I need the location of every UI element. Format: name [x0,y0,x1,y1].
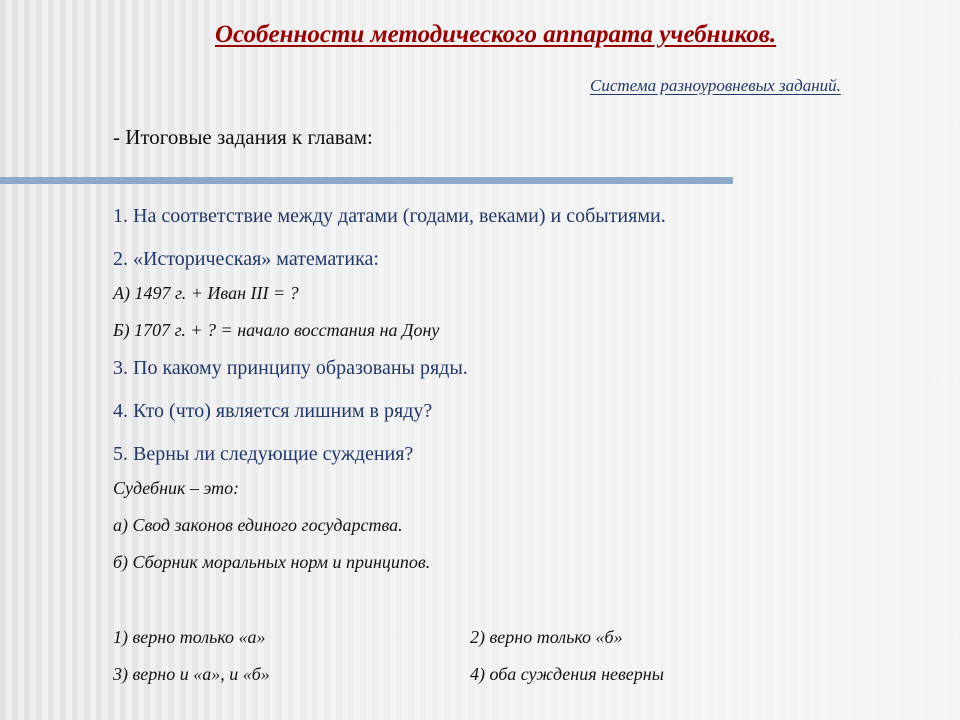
task-list: 1. На соответствие между датами (годами,… [113,204,943,588]
list-item: а) Свод законов единого государства. [113,514,943,537]
list-item: 5. Верны ли следующие суждения? [113,442,943,467]
answer-option: 1) верно только «а» [113,626,470,649]
list-item: 4. Кто (что) является лишним в ряду? [113,399,943,424]
answer-option: 2) верно только «б» [470,626,873,649]
answer-options-grid: 1) верно только «а» 2) верно только «б» … [113,626,873,700]
slide-subtitle: Система разноуровневых заданий. [590,75,841,97]
answer-row: 3) верно и «а», и «б» 4) оба суждения не… [113,663,873,686]
horizontal-divider-bar [0,177,733,184]
list-item: 2. «Историческая» математика: [113,247,943,272]
list-item: Судебник – это: [113,477,943,500]
list-item: 1. На соответствие между датами (годами,… [113,204,943,229]
list-item: А) 1497 г. + Иван III = ? [113,282,943,305]
list-item: 3. По какому принципу образованы ряды. [113,356,943,381]
list-item: Б) 1707 г. + ? = начало восстания на Дон… [113,319,943,342]
list-item: б) Сборник моральных норм и принципов. [113,551,943,574]
answer-option: 4) оба суждения неверны [470,663,873,686]
slide-content: Особенности методического аппарата учебн… [0,0,960,720]
intro-line: - Итоговые задания к главам: [113,124,373,151]
slide-canvas: Особенности методического аппарата учебн… [0,0,960,720]
answer-option: 3) верно и «а», и «б» [113,663,470,686]
slide-title: Особенности методического аппарата учебн… [215,20,945,50]
answer-row: 1) верно только «а» 2) верно только «б» [113,626,873,649]
